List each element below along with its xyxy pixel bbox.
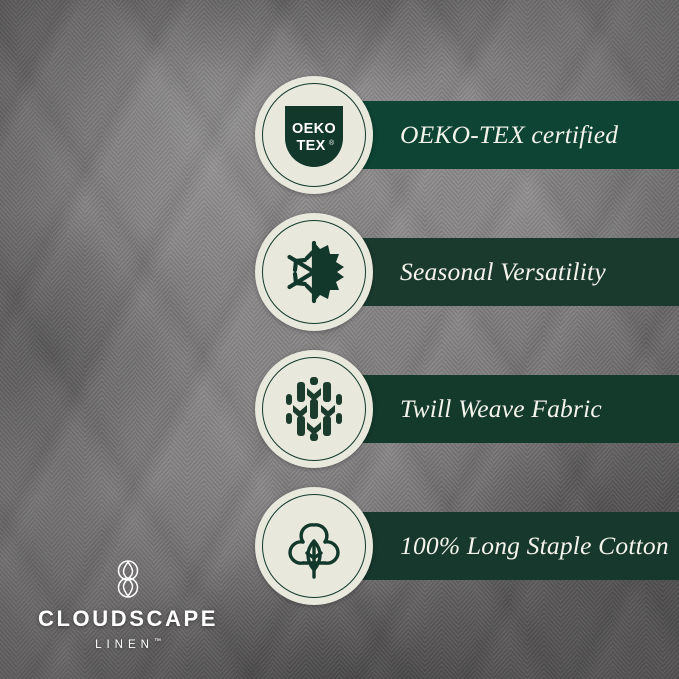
feature-label: Seasonal Versatility	[400, 238, 661, 306]
svg-text:OEKO: OEKO	[292, 121, 336, 137]
trademark-symbol: ™	[154, 638, 161, 645]
feature-badge	[255, 213, 373, 331]
brand-subtitle: LINEN™	[33, 638, 223, 651]
svg-text:TEX: TEX	[296, 138, 325, 154]
product-feature-graphic: OEKO-TEX certified OEKO TEX ® Seasonal V…	[0, 0, 679, 679]
feature-row-oeko-tex: OEKO-TEX certified OEKO TEX ®	[255, 76, 679, 194]
oeko-tex-logo-icon: OEKO TEX ®	[277, 98, 351, 172]
woven-fabric-icon	[277, 372, 351, 446]
feature-label: 100% Long Staple Cotton	[400, 512, 661, 580]
brand-subtitle-text: LINEN	[95, 639, 154, 651]
brand-name: CLOUDSCAPE	[33, 608, 223, 630]
svg-text:®: ®	[329, 139, 335, 147]
feature-label: OEKO-TEX certified	[400, 101, 661, 169]
feature-badge	[255, 487, 373, 605]
feature-badge	[255, 350, 373, 468]
feature-row-seasonal-versatility: Seasonal Versatility	[255, 213, 679, 331]
feature-label: Twill Weave Fabric	[400, 375, 661, 443]
feature-row-long-staple-cotton: 100% Long Staple Cotton	[255, 487, 679, 605]
snowflake-sun-icon	[276, 234, 352, 310]
feature-badge: OEKO TEX ®	[255, 76, 373, 194]
infinity-loop-monogram-icon	[110, 556, 146, 602]
feature-row-twill-weave: Twill Weave Fabric	[255, 350, 679, 468]
cotton-boll-icon	[276, 508, 352, 584]
brand-logo: CLOUDSCAPE LINEN™	[33, 556, 223, 651]
